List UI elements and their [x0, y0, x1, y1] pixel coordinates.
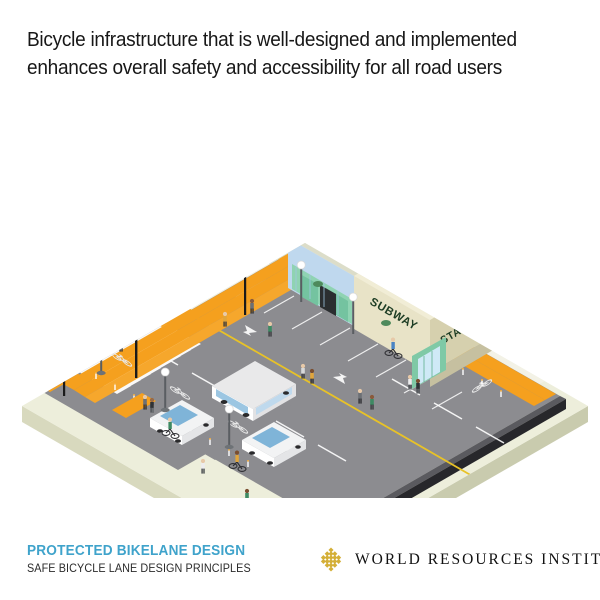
- infographic-poster: Bicycle infrastructure that is well-desi…: [0, 0, 600, 600]
- traffic-signal-pole-near: [63, 352, 65, 396]
- headline-line-2: enhances overall safety and accessibilit…: [27, 54, 534, 82]
- wri-logo: WORLD RESOURCES INSTITUTE: [318, 547, 600, 573]
- rooftop-hedges: [310, 134, 506, 213]
- footer: PROTECTED BIKELANE DESIGN SAFE BICYCLE L…: [0, 535, 600, 595]
- office-building: [178, 93, 336, 264]
- wri-diamond-lattice-icon: [318, 547, 344, 573]
- rooftop-bench: [448, 183, 478, 200]
- rooftop-railings: [404, 154, 486, 201]
- street-scene-illustration: SUBWAY STATION: [0, 88, 600, 498]
- brand-title: PROTECTED BIKELANE DESIGN: [27, 543, 251, 560]
- headline-line-1: Bicycle infrastructure that is well-desi…: [27, 28, 517, 51]
- page-title: Bicycle infrastructure that is well-desi…: [27, 26, 534, 82]
- isometric-scene-svg: SUBWAY STATION: [0, 88, 600, 498]
- wri-wordmark: WORLD RESOURCES INSTITUTE: [355, 551, 600, 569]
- brand-subtitle: SAFE BICYCLE LANE DESIGN PRINCIPLES: [27, 562, 251, 576]
- brand-block: PROTECTED BIKELANE DESIGN SAFE BICYCLE L…: [27, 543, 265, 576]
